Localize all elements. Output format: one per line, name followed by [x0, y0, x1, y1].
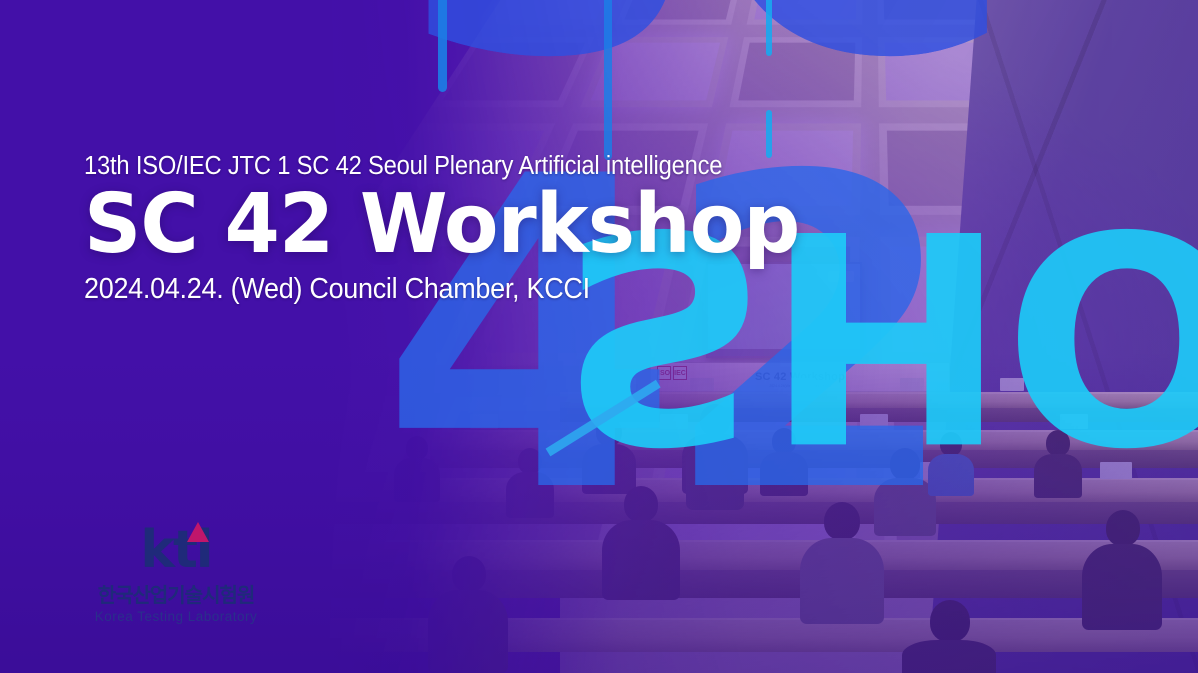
headline-block: 13th ISO/IEC JTC 1 SC 42 Seoul Plenary A… [84, 152, 822, 306]
ktl-logo: ktl 한국산업기술시험원 Korea Testing Laboratory [86, 524, 266, 624]
event-dateline: 2024.04.24. (Wed) Council Chamber, KCCI [84, 273, 770, 306]
accent-shard [766, 0, 772, 56]
accent-shard [438, 0, 447, 92]
poster-canvas: ISO IEC SC 42 Workshop 2024.4.24(Wed) Co… [0, 0, 1198, 673]
watermark-sc: SC [395, 0, 1008, 74]
event-headline: SC 42 Workshop [84, 183, 799, 267]
ktl-english-name: Korea Testing Laboratory [86, 609, 266, 624]
accent-shard [604, 0, 612, 160]
ktl-korean-name: 한국산업기술시험원 [86, 579, 266, 608]
accent-shard [766, 110, 772, 158]
ktl-wordmark: ktl [140, 524, 211, 576]
ktl-triangle-icon [187, 522, 209, 542]
